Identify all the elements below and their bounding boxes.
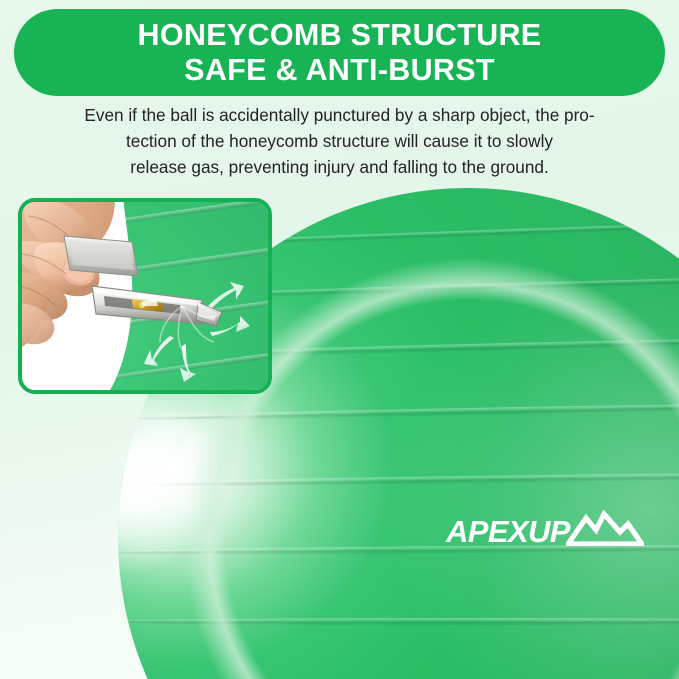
description-line-3: release gas, preventing injury and falli… [22,154,657,180]
air-release-arrows-icon [142,280,272,390]
page-title-line-1: HONEYCOMB STRUCTURE [138,18,542,53]
puncture-demonstration-photo [18,198,272,394]
description-line-2: tection of the honeycomb structure will … [22,128,657,154]
inset-photo-content [22,202,268,390]
description-text: Even if the ball is accidentally punctur… [0,102,679,180]
promo-image-canvas: HONEYCOMB STRUCTURE SAFE & ANTI-BURST Ev… [0,0,679,679]
header-banner: HONEYCOMB STRUCTURE SAFE & ANTI-BURST [14,9,665,96]
page-title-line-2: SAFE & ANTI-BURST [184,53,495,88]
brand-logo: APEXUP [446,510,644,547]
brand-wordmark: APEXUP [446,516,570,547]
description-line-1: Even if the ball is accidentally punctur… [22,102,657,128]
mountain-peaks-icon [566,510,644,546]
